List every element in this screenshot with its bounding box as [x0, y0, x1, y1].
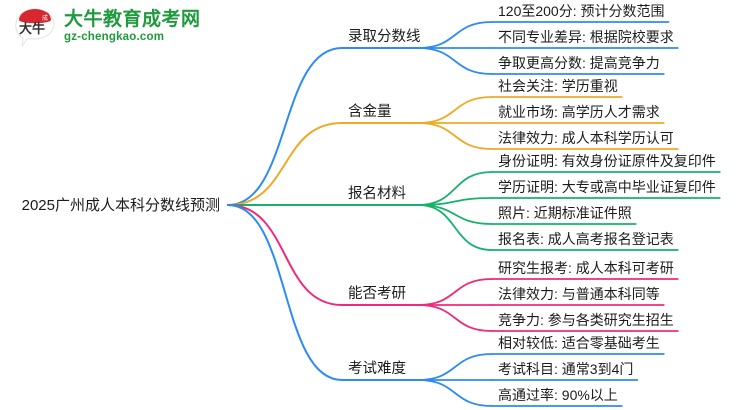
leaf-node-hitarea[interactable]: [492, 102, 668, 125]
leaf-node-hitarea[interactable]: [492, 203, 640, 226]
branch-to-leaf-edge: [418, 205, 492, 250]
branch-to-leaf-edge: [418, 97, 492, 123]
leaf-node-hitarea[interactable]: [492, 229, 682, 252]
branch-to-leaf-edge: [418, 48, 492, 74]
branch-to-leaf-edge: [418, 123, 492, 149]
leaf-node-hitarea[interactable]: [492, 258, 682, 281]
mindmap-canvas: 大牛 成 大牛教育成考网 gz-chengkao.com 2025广州成人本科分…: [0, 0, 750, 410]
mindmap-svg: 2025广州成人本科分数线预测录取分数线120至200分: 预计分数范围不同专业…: [0, 0, 750, 410]
branch-to-leaf-edge: [418, 380, 492, 406]
root-to-branch-edge: [228, 205, 342, 380]
branch-to-leaf-edge: [418, 198, 492, 205]
branch-node-hitarea[interactable]: [342, 183, 414, 207]
leaf-node-hitarea[interactable]: [492, 284, 668, 307]
root-node-label[interactable]: 2025广州成人本科分数线预测: [22, 197, 220, 214]
root-to-branch-edge: [228, 123, 342, 205]
leaf-node-hitarea[interactable]: [492, 151, 724, 174]
branch-node-hitarea[interactable]: [342, 283, 414, 307]
node-label-group: 2025广州成人本科分数线预测录取分数线120至200分: 预计分数范围不同专业…: [22, 1, 724, 408]
branch-to-leaf-edge: [418, 279, 492, 305]
leaf-node-hitarea[interactable]: [492, 333, 668, 356]
root-connector-group: [228, 48, 342, 380]
leaf-node-hitarea[interactable]: [492, 385, 626, 408]
branch-to-leaf-edge: [418, 22, 492, 48]
branch-node-hitarea[interactable]: [342, 101, 399, 125]
leaf-node-hitarea[interactable]: [492, 310, 682, 333]
leaf-node-hitarea[interactable]: [492, 53, 668, 76]
branch-node-hitarea[interactable]: [342, 358, 414, 382]
leaf-node-hitarea[interactable]: [492, 128, 682, 151]
branch-to-leaf-edge: [418, 354, 492, 380]
leaf-node-hitarea[interactable]: [492, 76, 626, 99]
branch-to-leaf-edge: [418, 305, 492, 331]
leaf-node-hitarea[interactable]: [492, 359, 641, 382]
branch-node-hitarea[interactable]: [342, 26, 428, 50]
leaf-node-hitarea[interactable]: [492, 27, 682, 50]
leaf-node-hitarea[interactable]: [492, 177, 724, 200]
branch-to-leaf-edge: [418, 172, 492, 205]
leaf-node-hitarea[interactable]: [492, 1, 672, 24]
branch-connector-group: [418, 22, 492, 406]
branch-to-leaf-edge: [418, 205, 492, 224]
